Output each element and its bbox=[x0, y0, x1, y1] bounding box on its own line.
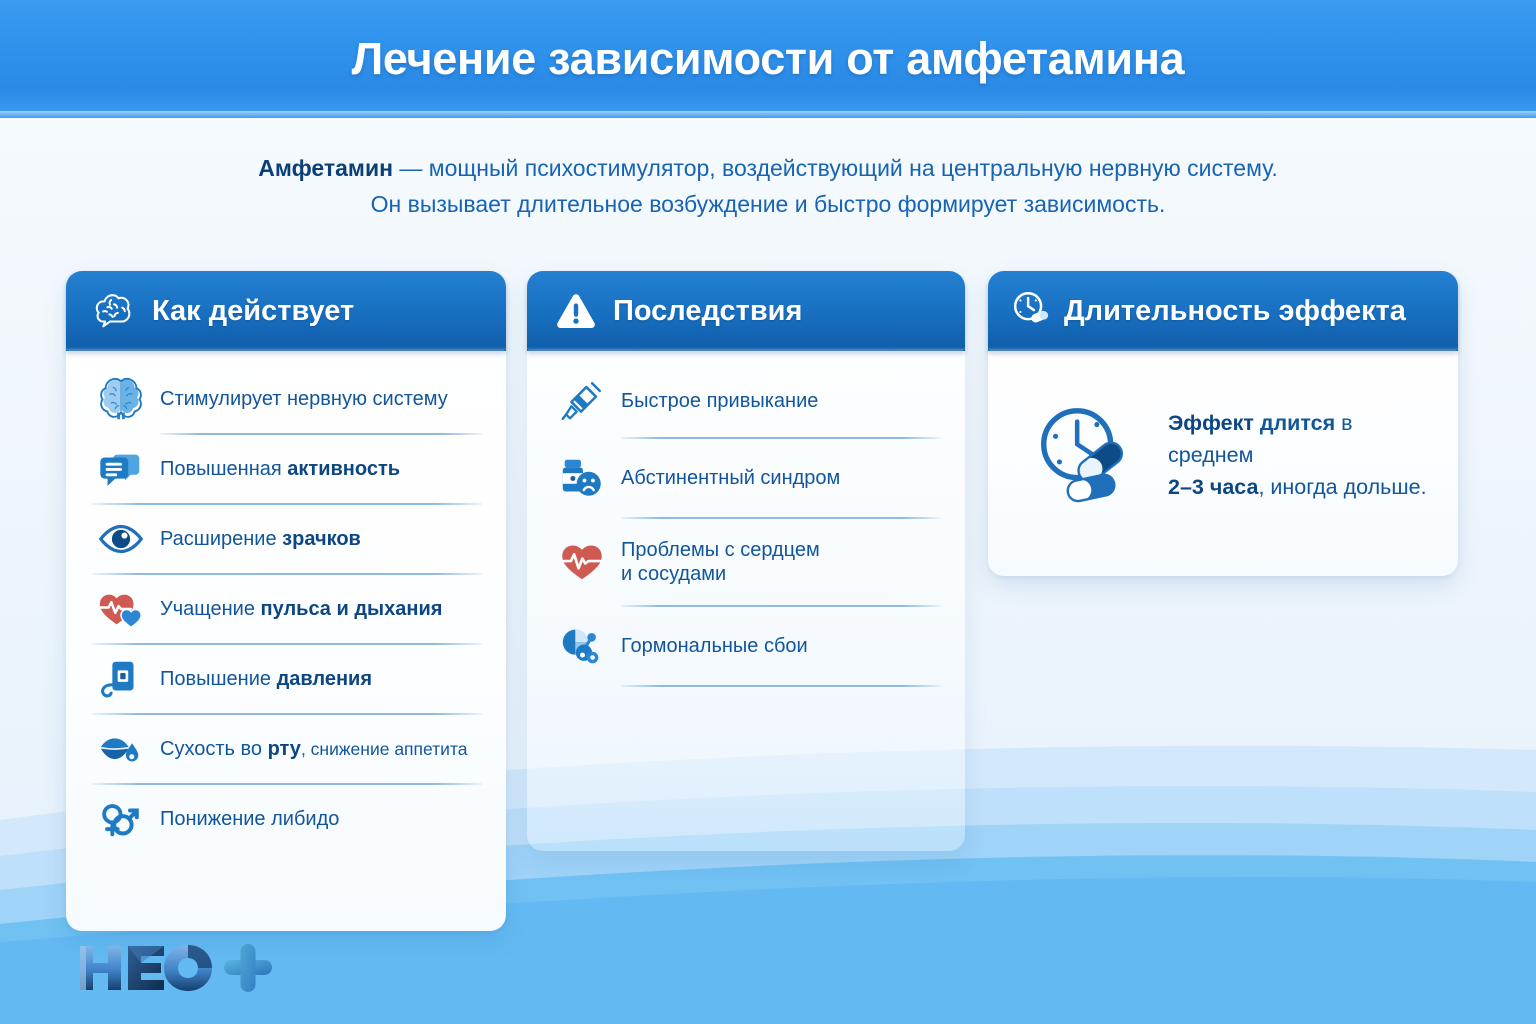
label-text: Гормональные сбои bbox=[621, 635, 808, 657]
label-post: , снижение аппетита bbox=[301, 739, 468, 759]
label-text: Абстинентный синдром bbox=[621, 467, 840, 489]
intro-line-2: Он вызывает длительное возбуждение и быс… bbox=[0, 186, 1536, 222]
effect-line-1: Эффект длится в среднем bbox=[1168, 408, 1434, 472]
cards-row: Как действует Стимулирует нер bbox=[0, 271, 1536, 971]
gender-symbols-icon bbox=[96, 794, 146, 844]
page-title: Лечение зависимости от амфетамина bbox=[352, 33, 1185, 85]
syringe-icon bbox=[557, 376, 607, 426]
pill-bottle-sad-face-icon bbox=[557, 453, 607, 503]
label-bold: пульса и дыхания bbox=[261, 598, 443, 620]
clock-pills-icon bbox=[1008, 288, 1054, 334]
list-item: Расширение зрачков bbox=[84, 505, 488, 573]
list-item-label: Учащение пульса и дыхания bbox=[160, 597, 442, 621]
effect-bold-1: Эффект bbox=[1168, 411, 1254, 435]
label-text: Быстрое привыкание bbox=[621, 390, 818, 412]
list-item: Проблемы с сердцем и сосудами bbox=[545, 519, 947, 605]
label-text: Стимулирует нервную систему bbox=[160, 388, 448, 410]
card-how-it-works: Как действует Стимулирует нер bbox=[66, 271, 506, 931]
card-title: Последствия bbox=[613, 295, 802, 328]
list-item-label: Повышение давления bbox=[160, 667, 372, 691]
lips-droplet-icon bbox=[96, 724, 146, 774]
label-bold: зрачков bbox=[282, 528, 361, 550]
list-item: Стимулирует нервную систему bbox=[84, 365, 488, 433]
label-text: Сухость во bbox=[160, 738, 268, 760]
card-body-consequences: Быстрое привыкание bbox=[527, 351, 965, 697]
brain-icon bbox=[96, 374, 146, 424]
list-item-label: Быстрое привыкание bbox=[621, 389, 818, 413]
list-item: Понижение либидо bbox=[84, 785, 488, 853]
list-item: Повышенная активность bbox=[84, 435, 488, 503]
label-bold: рту bbox=[268, 738, 301, 760]
card-consequences: Последствия Быстрое при bbox=[527, 271, 965, 851]
list-item: Быстрое привыкание bbox=[545, 365, 947, 437]
effect-semi-1: длится bbox=[1254, 411, 1335, 435]
list-item-label: Сухость во рту, снижение аппетита bbox=[160, 737, 468, 761]
effect-rest-2: , иногда дольше. bbox=[1258, 475, 1426, 499]
card-header-consequences: Последствия bbox=[527, 271, 965, 351]
label-text: Расширение bbox=[160, 528, 282, 550]
list-item-label: Понижение либидо bbox=[160, 807, 339, 831]
list-item-label: Повышенная активность bbox=[160, 457, 400, 481]
list-item: Гормональные сбои bbox=[545, 607, 947, 685]
label-bold: давления bbox=[277, 668, 372, 690]
list-item-label: Гормональные сбои bbox=[621, 634, 808, 658]
hormone-molecule-icon bbox=[557, 621, 607, 671]
eye-icon bbox=[96, 514, 146, 564]
hearts-pulse-icon bbox=[96, 584, 146, 634]
card-body-effect-duration: Эффект длится в среднем 2–3 часа, иногда… bbox=[988, 351, 1458, 561]
card-body-how-it-works: Стимулирует нервную систему bbox=[66, 351, 506, 863]
intro-line-1: Амфетамин — мощный психостимулятор, возд… bbox=[0, 150, 1536, 186]
infographic-poster: Лечение зависимости от амфетамина Амфета… bbox=[0, 0, 1536, 1024]
list-item-label: Проблемы с сердцем и сосудами bbox=[621, 538, 820, 587]
list-item: Учащение пульса и дыхания bbox=[84, 575, 488, 643]
list-item: Повышение давления bbox=[84, 645, 488, 713]
card-header-how-it-works: Как действует bbox=[66, 271, 506, 351]
intro-text: Амфетамин — мощный психостимулятор, возд… bbox=[0, 150, 1536, 223]
brand-logo bbox=[76, 940, 276, 996]
label-text: Проблемы с сердцем и сосудами bbox=[621, 539, 820, 585]
list-item: Сухость во рту, снижение аппетита bbox=[84, 715, 488, 783]
label-text: Учащение bbox=[160, 598, 261, 620]
card-effect-duration: Длительность эффекта bbox=[988, 271, 1458, 576]
label-text: Повышенная bbox=[160, 458, 287, 480]
card-header-effect-duration: Длительность эффекта bbox=[988, 271, 1458, 351]
divider bbox=[621, 685, 941, 687]
list-item-label: Расширение зрачков bbox=[160, 527, 361, 551]
intro-keyword: Амфетамин bbox=[258, 155, 393, 181]
list-item: Абстинентный синдром bbox=[545, 439, 947, 517]
effect-bold-2: 2–3 часа bbox=[1168, 475, 1258, 499]
label-bold: активность bbox=[287, 458, 400, 480]
clock-pills-large-icon bbox=[1028, 397, 1146, 515]
title-band: Лечение зависимости от амфетамина bbox=[0, 0, 1536, 118]
blood-pressure-monitor-icon bbox=[96, 654, 146, 704]
list-item-label: Абстинентный синдром bbox=[621, 466, 840, 490]
label-text: Повышение bbox=[160, 668, 277, 690]
intro-line-1-rest: — мощный психостимулятор, воздействующий… bbox=[393, 155, 1278, 181]
speech-bubbles-icon bbox=[96, 444, 146, 494]
card-title: Длительность эффекта bbox=[1064, 295, 1406, 328]
card-title: Как действует bbox=[152, 295, 354, 328]
effect-line-2: 2–3 часа, иногда дольше. bbox=[1168, 472, 1434, 504]
neo-plus-logo-icon bbox=[76, 940, 276, 996]
warning-triangle-icon bbox=[553, 288, 599, 334]
label-text: Понижение либидо bbox=[160, 808, 339, 830]
brain-outline-icon bbox=[92, 288, 138, 334]
list-item-label: Стимулирует нервную систему bbox=[160, 387, 448, 411]
heart-ecg-icon bbox=[557, 537, 607, 587]
effect-duration-text: Эффект длится в среднем 2–3 часа, иногда… bbox=[1168, 408, 1434, 503]
